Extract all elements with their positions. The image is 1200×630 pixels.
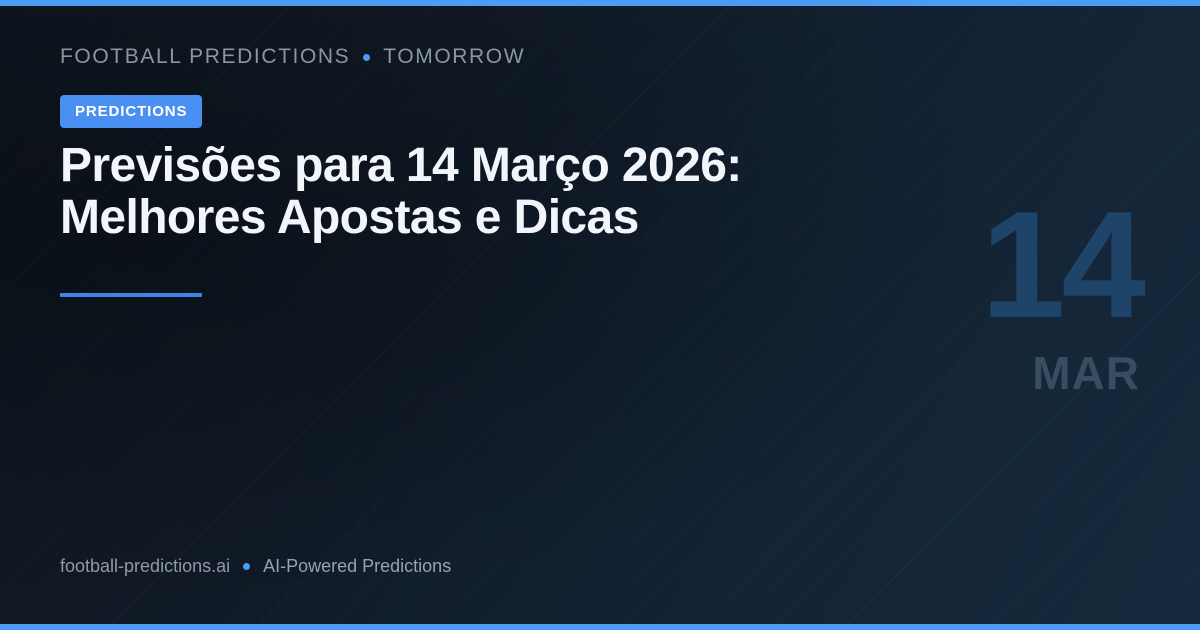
footer-line: football-predictions.ai AI-Powered Predi… <box>60 556 451 577</box>
kicker-timeframe: TOMORROW <box>383 45 525 69</box>
bullet-dot-icon <box>243 563 250 570</box>
site-name[interactable]: football-predictions.ai <box>60 556 230 577</box>
watermark-month: MAR <box>981 350 1140 396</box>
date-watermark: 14 MAR <box>981 196 1142 396</box>
bullet-dot-icon <box>363 54 370 61</box>
site-tagline: AI-Powered Predictions <box>263 556 451 577</box>
watermark-day: 14 <box>981 196 1142 336</box>
page-title: Previsões para 14 Março 2026: Melhores A… <box>60 140 880 244</box>
title-underline-rule <box>60 293 202 297</box>
kicker-category: FOOTBALL PREDICTIONS <box>60 45 350 69</box>
og-share-card: 14 MAR FOOTBALL PREDICTIONS TOMORROW PRE… <box>0 0 1200 630</box>
predictions-badge[interactable]: PREDICTIONS <box>60 95 202 128</box>
kicker-line: FOOTBALL PREDICTIONS TOMORROW <box>60 45 525 69</box>
card-content: FOOTBALL PREDICTIONS TOMORROW PREDICTION… <box>60 0 940 630</box>
